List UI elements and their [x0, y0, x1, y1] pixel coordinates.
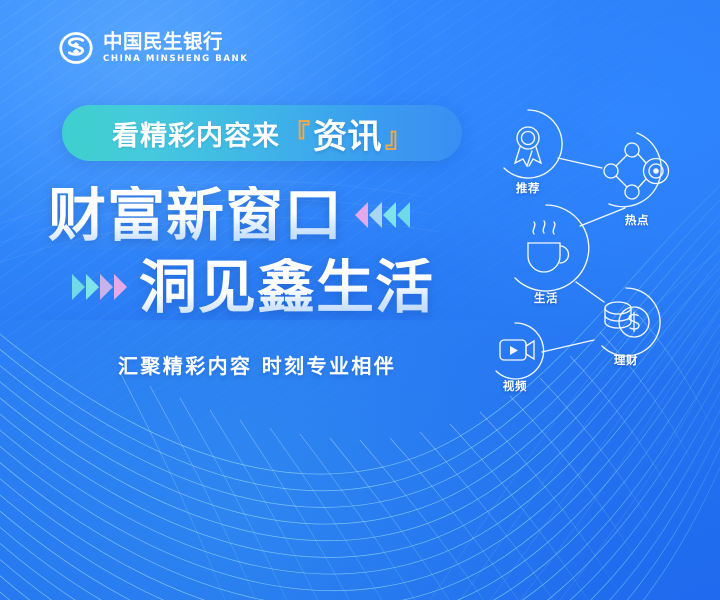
promo-banner: 中国民生银行 CHINA MINSHENG BANK 看精彩内容来 『 资讯 』… — [0, 0, 720, 600]
chevron-left-icon-1 — [355, 202, 368, 228]
node-label-video: 视频 — [503, 378, 527, 394]
chevrons-left-group — [355, 202, 410, 228]
minsheng-s-mark-icon — [58, 31, 94, 65]
chevrons-right-group — [72, 274, 127, 300]
subtitle: 汇聚精彩内容 时刻专业相伴 — [118, 350, 396, 379]
node-life — [515, 205, 589, 291]
logo-name-en: CHINA MINSHENG BANK — [103, 55, 248, 64]
badge-lead-text: 看精彩内容来 — [112, 114, 280, 153]
node-label-life: 生活 — [534, 290, 558, 306]
network-edges — [542, 158, 625, 352]
chevron-right-icon-3 — [100, 274, 113, 300]
node-finance — [602, 288, 660, 356]
headline-line-2: 洞见鑫生活 — [72, 258, 434, 316]
badge-bracket-open: 『 — [283, 113, 310, 152]
category-network: 推荐 热点 生活 理财 视频 — [470, 96, 720, 396]
badge-bracket-close: 』 — [385, 116, 412, 155]
badge-keyword: 资讯 — [313, 109, 382, 158]
chevron-left-icon-2 — [369, 202, 382, 228]
chevron-left-icon-3 — [383, 202, 396, 228]
node-video — [496, 323, 544, 379]
headline-text-2: 洞见鑫生活 — [139, 258, 434, 316]
headline-line-1: 财富新窗口 — [48, 186, 410, 244]
feature-badge[interactable]: 看精彩内容来 『 资讯 』 — [62, 105, 462, 161]
chevron-left-icon-4 — [397, 202, 410, 228]
bank-logo: 中国民生银行 CHINA MINSHENG BANK — [58, 31, 248, 65]
logo-wordmark: 中国民生银行 CHINA MINSHENG BANK — [103, 32, 248, 63]
chevron-right-icon-1 — [72, 274, 85, 300]
node-label-recommend: 推荐 — [516, 180, 540, 196]
headline-text-1: 财富新窗口 — [48, 186, 343, 244]
node-hotspot — [604, 133, 669, 207]
node-recommend — [504, 110, 562, 178]
chevron-right-icon-2 — [86, 274, 99, 300]
logo-name-cn: 中国民生银行 — [103, 32, 248, 52]
chevron-right-icon-4 — [114, 274, 127, 300]
node-label-hotspot: 热点 — [625, 212, 649, 228]
node-label-finance: 理财 — [614, 352, 638, 368]
